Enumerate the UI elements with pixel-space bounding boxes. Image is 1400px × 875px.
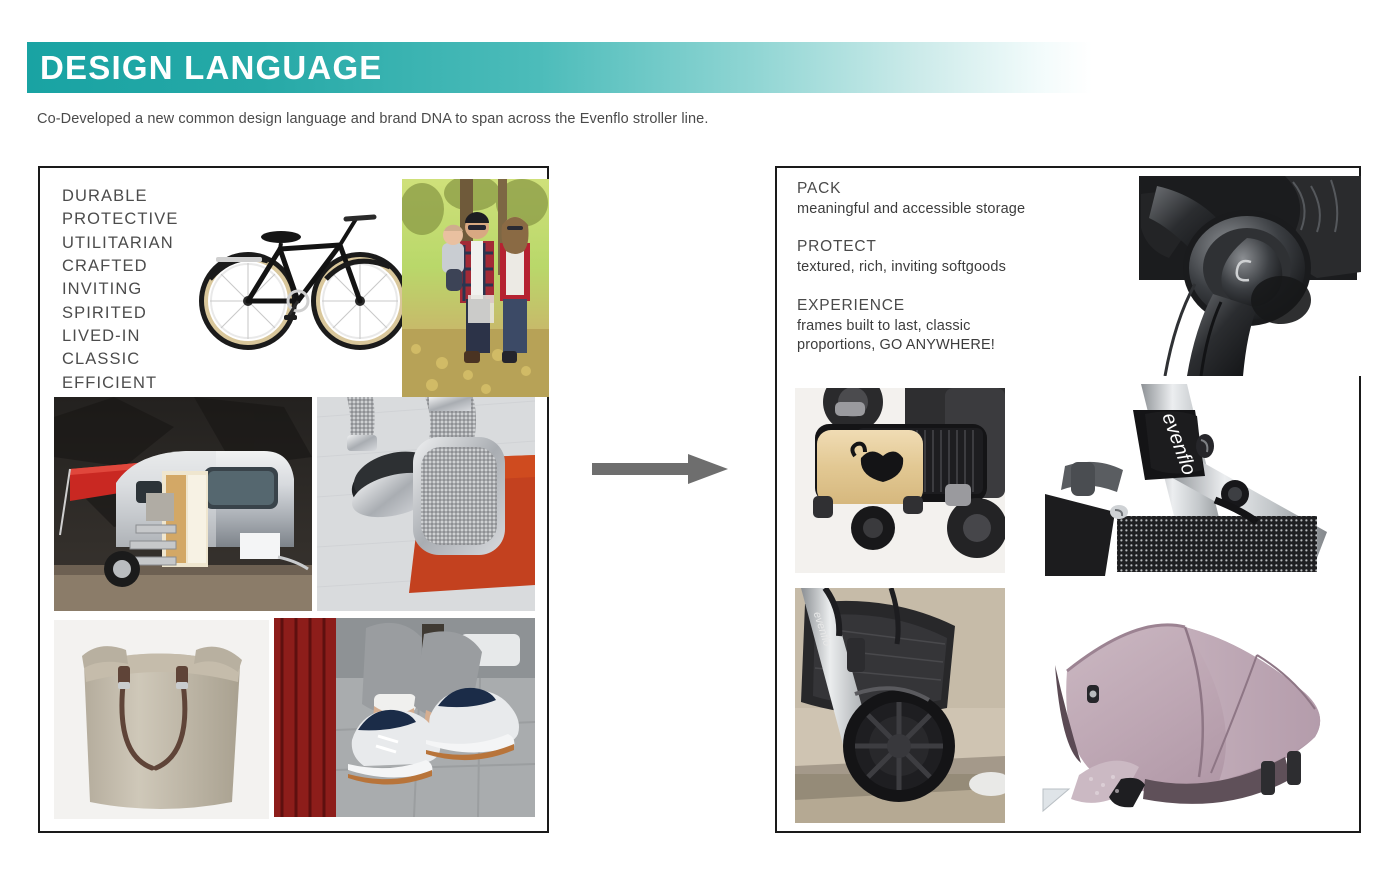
principle-heading: PROTECT	[797, 238, 1107, 256]
keyword-item: SPIRITED	[62, 302, 178, 325]
trailer-photo	[54, 397, 312, 611]
design-principles-list: PACK meaningful and accessible storage P…	[797, 180, 1107, 374]
bicycle-photo	[180, 193, 425, 361]
principle-heading: EXPERIENCE	[797, 297, 1107, 315]
principle-block: EXPERIENCE frames built to last, classic…	[797, 297, 1107, 356]
keyword-item: DURABLE	[62, 185, 178, 208]
inspiration-moodboard-panel: DURABLE PROTECTIVE UTILITARIAN CRAFTED I…	[38, 166, 549, 833]
family-photo	[402, 179, 549, 397]
keyword-item: EFFICIENT	[62, 372, 178, 395]
principle-body: frames built to last, classic proportion…	[797, 317, 1107, 356]
principle-block: PROTECT textured, rich, inviting softgoo…	[797, 238, 1107, 277]
principle-body: meaningful and accessible storage	[797, 200, 1107, 219]
ride-along-board-photo	[795, 388, 1005, 573]
principle-body: textured, rich, inviting softgoods	[797, 258, 1107, 277]
keyword-item: CRAFTED	[62, 255, 178, 278]
keyword-item: UTILITARIAN	[62, 232, 178, 255]
evenflo-frame-photo: evenflo	[1045, 384, 1330, 576]
header-banner: DESIGN LANGUAGE	[27, 42, 1092, 93]
keyword-item: INVITING	[62, 278, 178, 301]
keyword-item: PROTECTIVE	[62, 208, 178, 231]
keyword-item: CLASSIC	[62, 348, 178, 371]
principle-heading: PACK	[797, 180, 1107, 198]
sneakers-photo	[274, 618, 535, 817]
canopy-photo	[1025, 593, 1345, 823]
page-title: DESIGN LANGUAGE	[40, 49, 383, 87]
principle-block: PACK meaningful and accessible storage	[797, 180, 1107, 219]
design-keyword-list: DURABLE PROTECTIVE UTILITARIAN CRAFTED I…	[62, 185, 178, 418]
stroller-hinge-photo	[1135, 176, 1361, 376]
transition-arrow	[592, 452, 728, 486]
keyword-item: LIVED-IN	[62, 325, 178, 348]
tote-bag-photo	[54, 620, 269, 819]
headphones-photo	[317, 397, 535, 611]
design-principles-panel: PACK meaningful and accessible storage P…	[775, 166, 1361, 833]
stroller-wheel-photo: evenflo	[795, 588, 1005, 823]
page-subtitle: Co-Developed a new common design languag…	[37, 111, 708, 127]
